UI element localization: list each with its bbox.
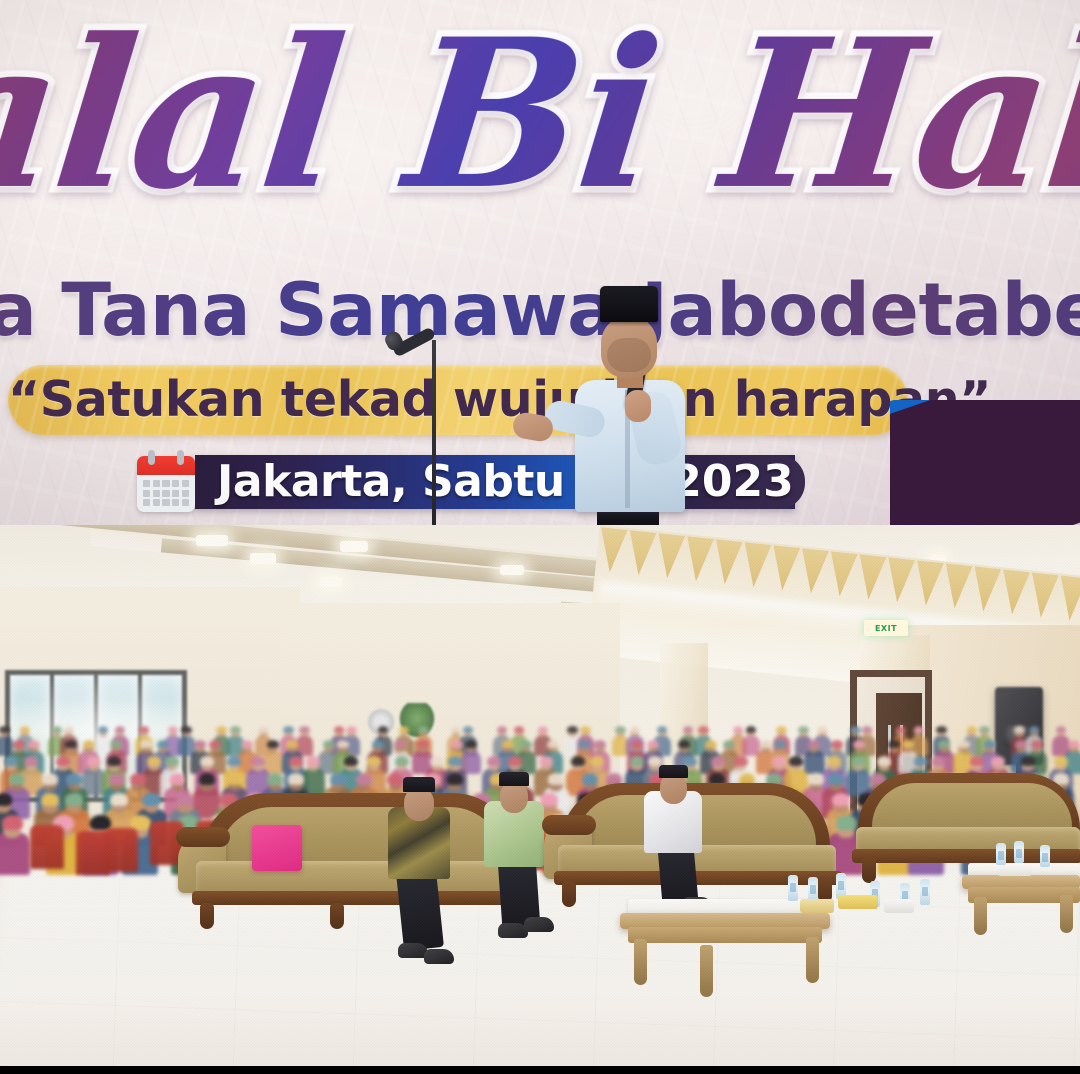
snack-box xyxy=(800,899,834,913)
water-bottle xyxy=(920,879,930,905)
banner-photo-panel: alal Bi Halal alal Bi Halal a Tana Samaw… xyxy=(0,0,1080,525)
peci-cap xyxy=(600,286,658,322)
exit-sign-label: EXIT xyxy=(875,624,897,633)
banner-headline: alal Bi Halal xyxy=(0,0,1080,246)
banner-subtitle: a Tana Samawa Jabodetabe xyxy=(0,268,1080,354)
water-bottle xyxy=(1040,845,1050,867)
microphone-stand xyxy=(432,340,436,525)
snack-box xyxy=(838,895,878,909)
banner-tagline: “Satukan tekad wujudkan harapan” xyxy=(8,365,908,435)
screenshot-root: alal Bi Halal alal Bi Halal a Tana Samaw… xyxy=(0,0,1080,1074)
speaker-figure xyxy=(555,286,695,525)
water-bottle xyxy=(1014,841,1024,863)
calendar-icon xyxy=(137,450,195,512)
snack-box xyxy=(884,899,914,913)
pink-tote-bag xyxy=(252,825,302,871)
hall-photo-panel: EXIT xyxy=(0,525,1080,1066)
banner-corner-decoration xyxy=(890,400,1080,525)
water-bottle xyxy=(788,875,798,901)
bottom-black-strip xyxy=(0,1066,1080,1074)
exit-sign: EXIT xyxy=(864,620,908,636)
water-bottle xyxy=(996,843,1006,865)
snack-box xyxy=(998,865,1032,876)
